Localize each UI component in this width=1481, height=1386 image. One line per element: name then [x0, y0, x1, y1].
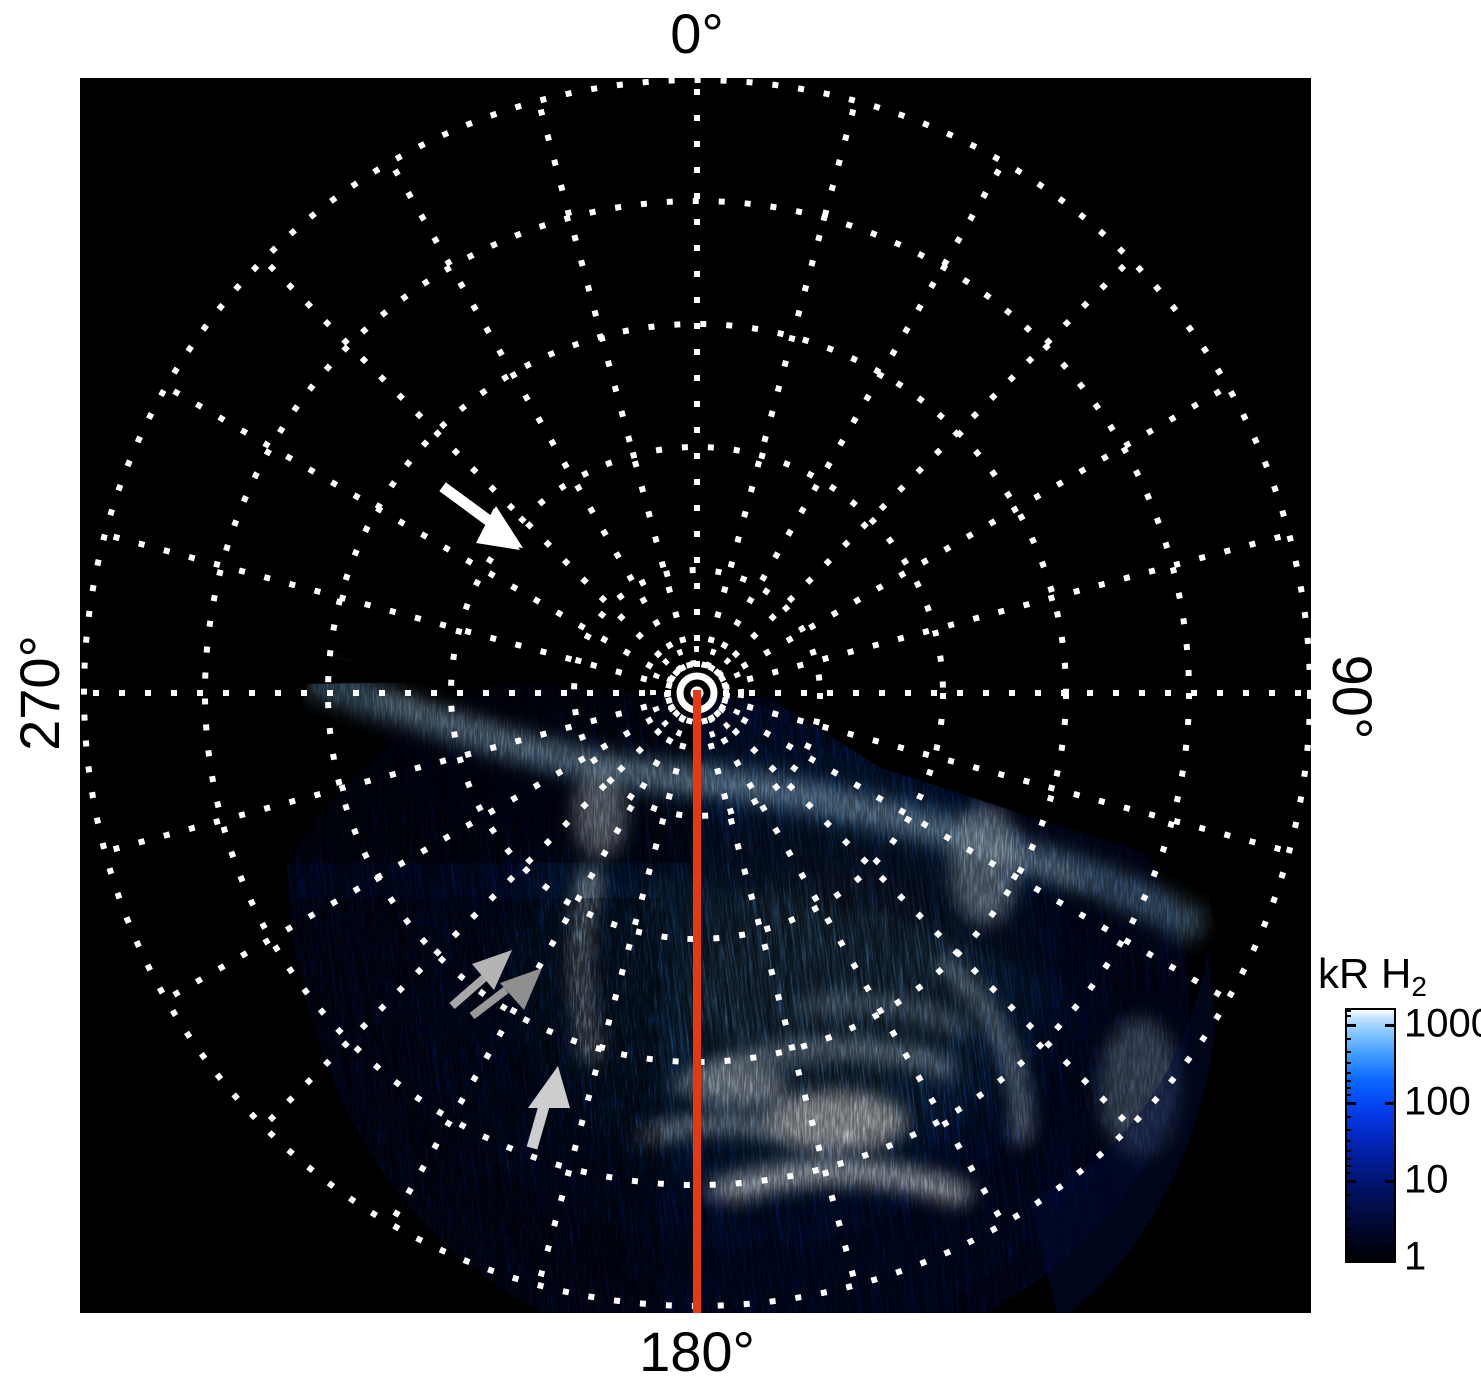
cb-tick-10-left: [1345, 1180, 1356, 1183]
axis-label-0deg: 0°: [670, 6, 724, 62]
cb-minor-tick: [1345, 1015, 1351, 1017]
cb-tick-100-right: [1385, 1102, 1396, 1105]
cb-minor-tick: [1345, 1094, 1351, 1096]
cb-tick-1-right: [1385, 1257, 1396, 1260]
colorbar-label-10: 10: [1404, 1158, 1449, 1203]
cb-minor-tick: [1345, 1129, 1351, 1131]
cb-minor-tick: [1345, 1150, 1351, 1152]
cb-minor-tick: [1345, 1207, 1351, 1209]
cb-minor-tick: [1345, 1236, 1351, 1238]
cb-tick-100-left: [1345, 1102, 1356, 1105]
colorbar-title: kR H2: [1318, 950, 1427, 998]
cb-minor-tick: [1345, 1228, 1351, 1230]
cb-minor-tick: [1345, 1172, 1351, 1174]
axis-label-180deg: 180°: [639, 1324, 755, 1380]
polar-plot-svg: [80, 78, 1311, 1313]
cb-minor-tick: [1345, 1010, 1351, 1012]
cb-minor-tick: [1345, 1243, 1351, 1245]
cb-minor-tick: [1345, 1140, 1351, 1142]
cb-minor-tick: [1345, 1080, 1351, 1082]
cb-minor-tick: [1345, 1038, 1351, 1040]
colorbar-title-main: kR H: [1318, 950, 1411, 997]
cb-minor-tick: [1345, 1116, 1351, 1118]
colorbar-label-1: 1: [1404, 1235, 1426, 1280]
colorbar-label-100: 100: [1404, 1080, 1471, 1125]
colorbar: kR H2: [1318, 950, 1478, 1320]
cb-tick-1000-right: [1385, 1024, 1396, 1027]
colorbar-ticks: [1345, 1008, 1396, 1263]
colorbar-label-1000: 1000: [1404, 1002, 1481, 1047]
cb-minor-tick: [1345, 1218, 1351, 1220]
cb-tick-1-left: [1345, 1257, 1356, 1260]
cb-minor-tick: [1345, 1072, 1351, 1074]
axis-label-270deg: 270°: [12, 635, 68, 751]
cb-minor-tick: [1345, 1062, 1351, 1064]
colorbar-title-subscript: 2: [1411, 971, 1427, 1002]
cb-minor-tick: [1345, 1194, 1351, 1196]
cb-minor-tick: [1345, 1165, 1351, 1167]
cb-minor-tick: [1345, 1051, 1351, 1053]
cb-tick-1000-left: [1345, 1024, 1356, 1027]
polar-plot-panel: [80, 78, 1311, 1313]
axis-label-90deg: 90°: [1324, 655, 1380, 740]
polar-aurora-figure: 0° 180° 270° 90°: [0, 0, 1481, 1386]
cb-minor-tick: [1345, 1250, 1351, 1252]
cb-tick-10-right: [1385, 1180, 1396, 1183]
cb-minor-tick: [1345, 1158, 1351, 1160]
cb-minor-tick: [1345, 1087, 1351, 1089]
